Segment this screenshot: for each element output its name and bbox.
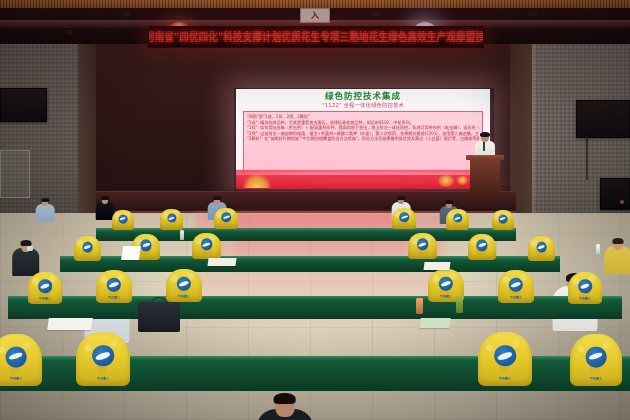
chair-logo-swoosh-icon (120, 217, 126, 221)
conference-hall-photo: 入 2022年河南省"四优四化"科技支撑计划优质花生专项三熟地花生绿色高效生产观… (0, 0, 630, 420)
chair-logo-swoosh-icon (168, 216, 175, 220)
thermos-green (456, 296, 463, 313)
chair-logo-icon (536, 242, 547, 253)
chair-logo-swoosh-icon (418, 242, 426, 247)
slide-body-line: "2颗粒": 在"苗期封行期喷施""中后期合理覆盖防治方法喷施"，防治方法及效果… (247, 136, 479, 142)
notebook-green (419, 318, 450, 328)
chair-logo-icon (119, 214, 128, 223)
chair-logo-swoosh-icon (588, 352, 603, 361)
person-hair (398, 196, 405, 200)
chair-logo-icon (221, 212, 231, 222)
chair-with-cover[interactable]: 华西建工 (568, 272, 602, 304)
led-banner: 2022年河南省"四优四化"科技支撑计划优质花生专项三熟地花生绿色高效生产观摩暨… (148, 26, 484, 48)
chair-with-cover[interactable] (468, 234, 496, 260)
chair-logo-swoosh-icon (8, 352, 23, 361)
chair-logo-text: 华西建工 (0, 377, 42, 380)
chair-logo-icon (6, 346, 27, 367)
chair-with-cover[interactable]: 华西建工 (570, 334, 622, 386)
projection-slide: 绿色防控技术集成 "1122" 全程一体化绿色防控技术 "四防"即"1选、1拌、… (236, 89, 490, 189)
person-body (604, 246, 630, 274)
chair-logo-swoosh-icon (223, 215, 230, 219)
chair-logo-text: 华西建工 (478, 377, 532, 380)
chair-logo-swoosh-icon (454, 216, 461, 220)
chair-logo-swoosh-icon (40, 283, 50, 289)
chair-with-cover[interactable] (408, 233, 437, 259)
chair-logo-swoosh-icon (142, 243, 150, 248)
chair-logo-swoosh-icon (179, 280, 189, 286)
chair-with-cover[interactable] (492, 210, 514, 230)
chair-logo-icon (107, 277, 121, 291)
chair-logo-icon (201, 239, 213, 251)
paper-right (423, 262, 450, 270)
chair-logo-text: 华西建工 (568, 297, 602, 300)
chair-logo-icon (578, 279, 592, 293)
chair-with-cover[interactable] (446, 209, 469, 230)
attendee-far-front (256, 392, 313, 420)
wall-speaker-left (0, 88, 47, 122)
chair-with-cover[interactable] (160, 209, 183, 230)
chair-logo-swoosh-icon (84, 245, 92, 250)
chair-logo-swoosh-icon (511, 281, 521, 287)
presenter-tie (483, 142, 485, 151)
person-hair (214, 196, 221, 200)
person-hair (20, 240, 31, 246)
person-hair (446, 200, 453, 204)
chair-logo-text: 华西建工 (498, 296, 534, 299)
chair-logo-icon (399, 212, 409, 222)
chair-with-cover[interactable]: 华西建工 (28, 272, 62, 304)
chair-with-cover[interactable] (192, 233, 221, 259)
wall-panel-left (0, 150, 30, 198)
chair-logo-swoosh-icon (202, 242, 210, 247)
slide-title: 绿色防控技术集成 (236, 92, 490, 102)
chair-logo-text: 华西建工 (76, 377, 130, 380)
person-hair (102, 196, 109, 200)
chair-with-cover[interactable]: 华西建工 (76, 332, 130, 386)
person-hair (273, 393, 296, 404)
led-banner-text: 2022年河南省"四优四化"科技支撑计划优质花生专项三熟地花生绿色高效生产观摩暨… (148, 31, 484, 44)
chair-with-cover[interactable] (74, 236, 101, 261)
chair-logo-icon (167, 214, 176, 223)
chair-logo-swoosh-icon (109, 281, 119, 287)
chair-logo-icon (82, 242, 93, 253)
presenter-hair (480, 132, 490, 137)
ceiling-vent (528, 11, 537, 16)
chair-with-cover[interactable] (392, 208, 416, 229)
ceiling-vent (122, 11, 131, 16)
chair-with-cover[interactable] (214, 208, 238, 229)
wall-conduit (586, 136, 588, 180)
wall-equipment-box-right (600, 178, 630, 210)
chair-logo-swoosh-icon (95, 351, 111, 360)
chair-logo-text: 华西建工 (96, 296, 132, 299)
slide-body-box: "四防"即"1选、1拌、2喷、2颗粒" "1选": 精选抗病品种，尤其是重茬病虫… (243, 111, 483, 171)
chair-logo-text: 华西建工 (166, 295, 202, 298)
person-hair (42, 198, 49, 202)
thermos-orange (416, 298, 423, 314)
paper-mid (207, 258, 236, 266)
chair-with-cover[interactable] (528, 236, 555, 261)
chair-with-cover[interactable]: 华西建工 (166, 269, 202, 302)
chair-logo-swoosh-icon (580, 283, 590, 289)
chair-logo-icon (453, 214, 462, 223)
bottle-clear (180, 230, 184, 240)
chair-logo-icon (140, 240, 151, 251)
person-body (36, 204, 55, 223)
bottle-small (596, 244, 600, 254)
chair-with-cover[interactable] (112, 210, 134, 230)
ceiling-vent (66, 30, 72, 34)
chair-logo-icon (177, 276, 191, 290)
attendee-left-blue (36, 198, 55, 223)
equipment-indicator-icon (620, 200, 624, 204)
paper-left (47, 318, 93, 330)
chair-with-cover[interactable]: 华西建工 (96, 270, 132, 303)
bag-handle (151, 297, 167, 306)
ceiling-vent (372, 11, 381, 16)
paper-reading (121, 246, 141, 260)
chair-logo-icon (38, 279, 52, 293)
chair-logo-icon (494, 345, 516, 367)
chair-logo-icon (586, 346, 607, 367)
chair-with-cover[interactable]: 华西建工 (478, 332, 532, 386)
chair-logo-swoosh-icon (538, 245, 546, 250)
chair-with-cover[interactable]: 华西建工 (0, 334, 42, 386)
wall-speaker-right (576, 100, 630, 138)
chair-logo-swoosh-icon (497, 351, 513, 360)
attendee-yellow-top (604, 238, 630, 276)
chair-logo-icon (417, 239, 429, 251)
chair-logo-text: 华西建工 (570, 377, 622, 380)
chair-with-cover[interactable]: 华西建工 (498, 270, 534, 303)
exit-sign: 入 (300, 8, 330, 23)
chair-logo-swoosh-icon (478, 243, 486, 248)
chair-logo-icon (499, 214, 508, 223)
chair-logo-icon (439, 276, 453, 290)
chair-logo-icon (92, 345, 114, 367)
chair-logo-icon (509, 277, 523, 291)
slide-subtitle: "1122" 全程一体化绿色防控技术 (236, 103, 490, 110)
chair-logo-swoosh-icon (401, 215, 408, 219)
person-hair (612, 238, 623, 244)
chair-logo-swoosh-icon (441, 280, 451, 286)
chair-logo-swoosh-icon (500, 217, 506, 221)
chair-logo-icon (476, 240, 487, 251)
briefcase (138, 302, 180, 332)
podium: 河南农科 优质花生专项 (470, 158, 500, 198)
chair-logo-text: 华西建工 (28, 297, 62, 300)
face-mask (27, 246, 33, 250)
slide-body-line: "1拌": 如何用吡虫啉（杀虫剂）+ 配殺菌剂拌种，提高和地下害虫，地上防治一体… (247, 125, 479, 131)
exit-sign-glyph: 入 (301, 10, 329, 21)
